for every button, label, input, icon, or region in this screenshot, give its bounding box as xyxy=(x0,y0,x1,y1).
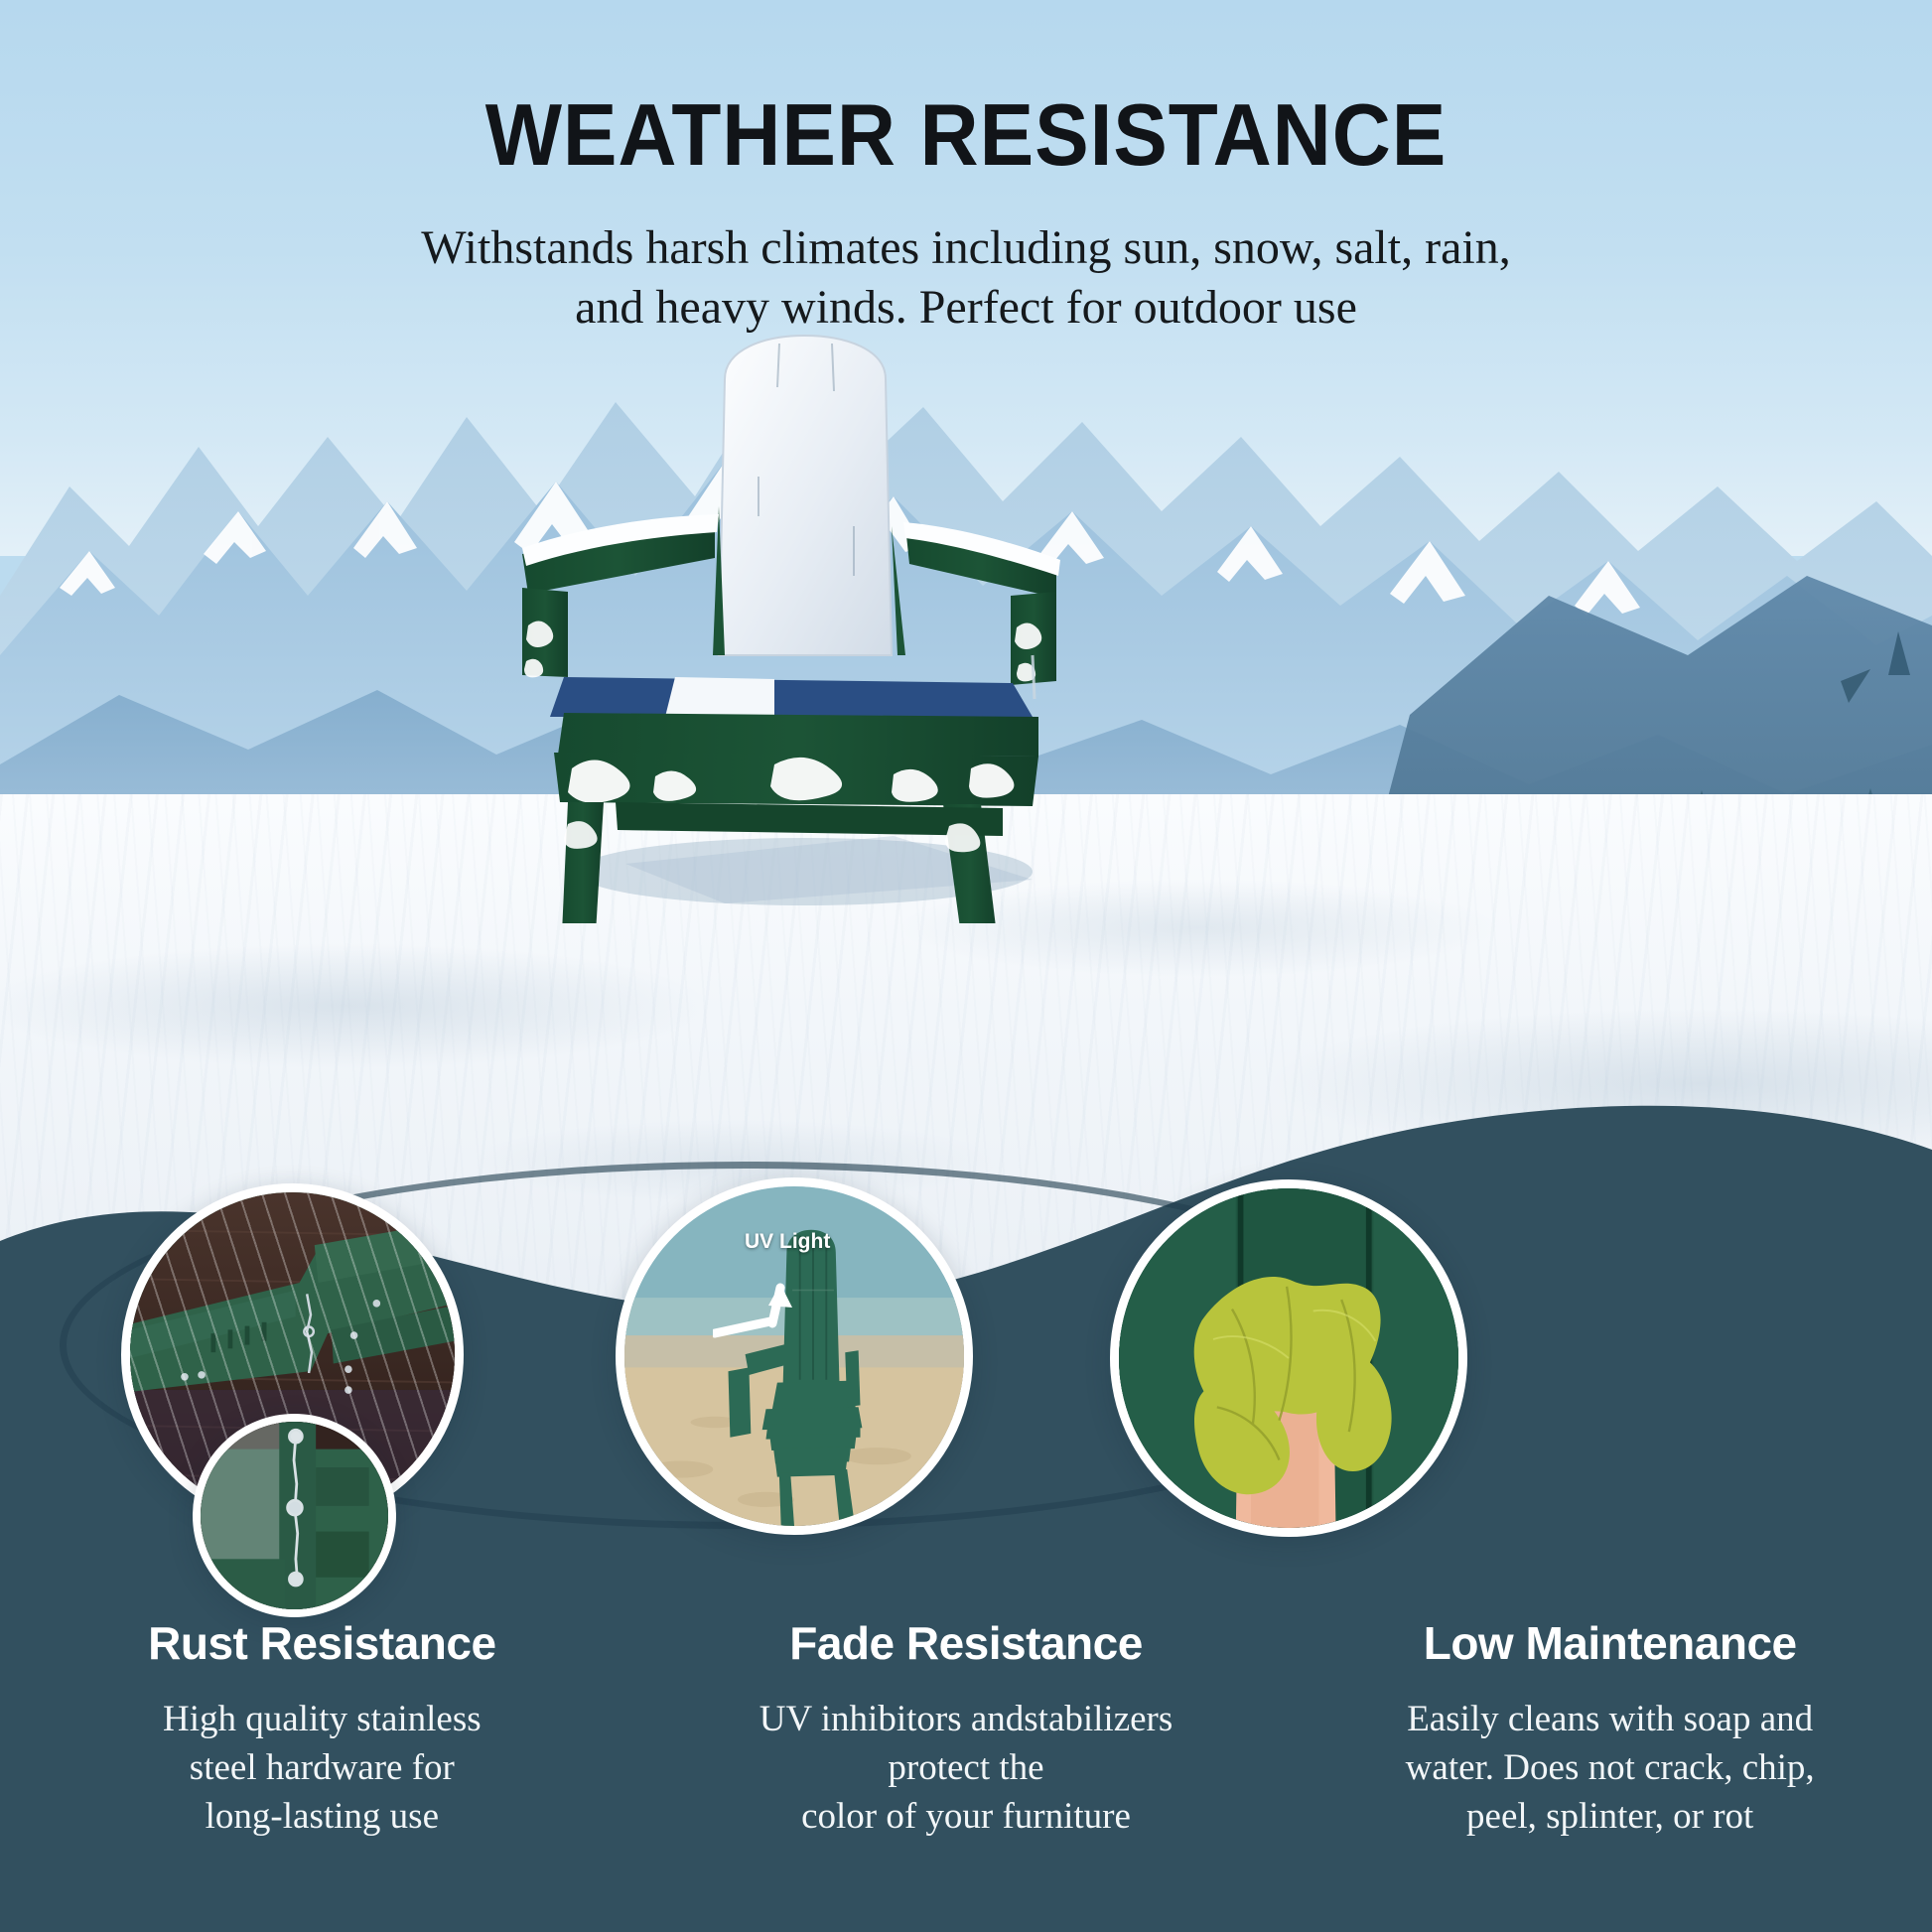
hero-adirondack-chair xyxy=(477,328,1092,923)
feature-card-fade-resistance: Fade Resistance UV inhibitors andstabili… xyxy=(644,1616,1289,1841)
feature-description: UV inhibitors andstabilizers protect the… xyxy=(678,1696,1255,1841)
header-block: WEATHER RESISTANCE Withstands harsh clim… xyxy=(0,91,1932,338)
feature-desc-line-3: peel, splinter, or rot xyxy=(1321,1793,1898,1842)
feature-description: High quality stainless steel hardware fo… xyxy=(34,1696,611,1841)
uv-light-arrow-icon xyxy=(713,1282,804,1343)
feature-image-low-maintenance xyxy=(1110,1179,1467,1537)
feature-card-low-maintenance: Low Maintenance Easily cleans with soap … xyxy=(1288,1616,1932,1841)
feature-desc-line-3: color of your furniture xyxy=(678,1793,1255,1842)
feature-title: Rust Resistance xyxy=(34,1616,611,1670)
rust-closeup-photo xyxy=(201,1422,388,1609)
feature-title: Fade Resistance xyxy=(678,1616,1255,1670)
uv-light-label: UV Light xyxy=(745,1230,830,1254)
page-title: WEATHER RESISTANCE xyxy=(68,91,1864,179)
feature-image-rust-closeup xyxy=(193,1414,396,1617)
page-subtitle: Withstands harsh climates including sun,… xyxy=(0,218,1932,338)
feature-desc-line-2: protect the xyxy=(678,1744,1255,1793)
feature-card-rust-resistance: Rust Resistance High quality stainless s… xyxy=(0,1616,644,1841)
feature-desc-line-3: long-lasting use xyxy=(34,1793,611,1842)
feature-desc-line-1: Easily cleans with soap and xyxy=(1321,1696,1898,1744)
infographic-canvas: WEATHER RESISTANCE Withstands harsh clim… xyxy=(0,0,1932,1932)
subtitle-line-2: and heavy winds. Perfect for outdoor use xyxy=(0,278,1932,338)
features-row: Rust Resistance High quality stainless s… xyxy=(0,1616,1932,1841)
beach-photo: UV Light xyxy=(624,1186,964,1526)
feature-title: Low Maintenance xyxy=(1321,1616,1898,1670)
feature-desc-line-2: steel hardware for xyxy=(34,1744,611,1793)
wipe-photo xyxy=(1119,1188,1458,1528)
feature-desc-line-1: High quality stainless xyxy=(34,1696,611,1744)
feature-desc-line-2: water. Does not crack, chip, xyxy=(1321,1744,1898,1793)
feature-image-fade-resistance: UV Light xyxy=(616,1177,973,1535)
feature-desc-line-1: UV inhibitors andstabilizers xyxy=(678,1696,1255,1744)
subtitle-line-1: Withstands harsh climates including sun,… xyxy=(0,218,1932,278)
feature-description: Easily cleans with soap and water. Does … xyxy=(1321,1696,1898,1841)
